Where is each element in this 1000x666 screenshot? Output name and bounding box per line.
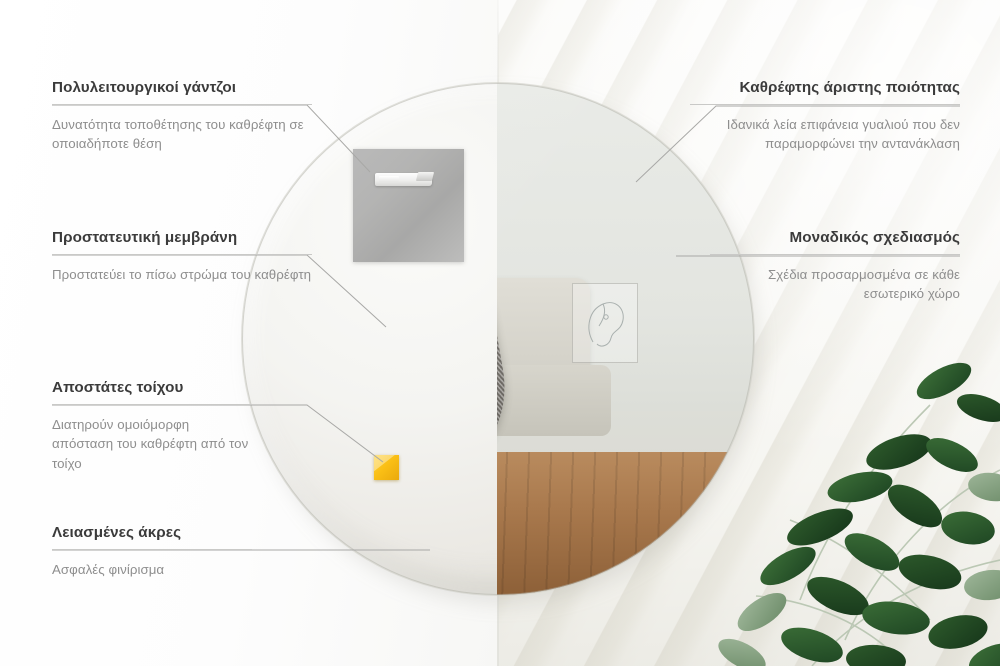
callout-spacers-title: Αποστάτες τοίχου (52, 378, 252, 397)
wall-spacer (374, 455, 399, 480)
callout-edges-title: Λειασμένες άκρες (52, 523, 252, 542)
round-mirror (242, 83, 754, 595)
callout-hooks-description: Δυνατότητα τοποθέτησης του καθρέφτη σε ο… (52, 115, 312, 154)
callout-hooks-title: Πολυλειτουργικοί γάντζοι (52, 78, 312, 97)
wall-hook (375, 173, 432, 186)
infographic-canvas: Πολυλειτουργικοί γάντζοι Δυνατότητα τοπο… (0, 0, 1000, 666)
callout-unique-design-description: Σχέδια προσαρμοσμένα σε κάθε εσωτερικό χ… (710, 265, 960, 304)
callout-spacers-description: Διατηρούν ομοιόμορφη απόσταση του καθρέφ… (52, 415, 252, 473)
callout-membrane-title: Προστατευτική μεμβράνη (52, 228, 312, 247)
callout-hooks: Πολυλειτουργικοί γάντζοι Δυνατότητα τοπο… (52, 78, 312, 154)
callout-hooks-rule (52, 104, 312, 105)
callout-membrane-description: Προστατεύει το πίσω στρώμα του καθρέφτη (52, 265, 312, 284)
callout-edges-description: Ασφαλές φινίρισμα (52, 560, 252, 579)
callout-unique-design: Μοναδικός σχεδιασμός Σχέδια προσαρμοσμέν… (710, 228, 960, 304)
callout-quality-mirror-title: Καθρέφτης άριστης ποιότητας (690, 78, 960, 97)
callout-membrane: Προστατευτική μεμβράνη Προστατεύει το πί… (52, 228, 312, 284)
callout-spacers-rule (52, 404, 252, 405)
callout-unique-design-title: Μοναδικός σχεδιασμός (710, 228, 960, 247)
callout-membrane-rule (52, 254, 312, 255)
callout-unique-design-rule (710, 254, 960, 255)
callout-edges-rule (52, 549, 252, 550)
callout-edges: Λειασμένες άκρες Ασφαλές φινίρισμα (52, 523, 252, 579)
hook-slot (379, 176, 399, 182)
callout-quality-mirror-rule (690, 104, 960, 105)
callout-spacers: Αποστάτες τοίχου Διατηρούν ομοιόμορφη απ… (52, 378, 252, 473)
callout-quality-mirror: Καθρέφτης άριστης ποιότητας Ιδανικά λεία… (690, 78, 960, 154)
protective-membrane-panel (353, 149, 464, 262)
callout-quality-mirror-description: Ιδανικά λεία επιφάνεια γυαλιού που δεν π… (690, 115, 960, 154)
